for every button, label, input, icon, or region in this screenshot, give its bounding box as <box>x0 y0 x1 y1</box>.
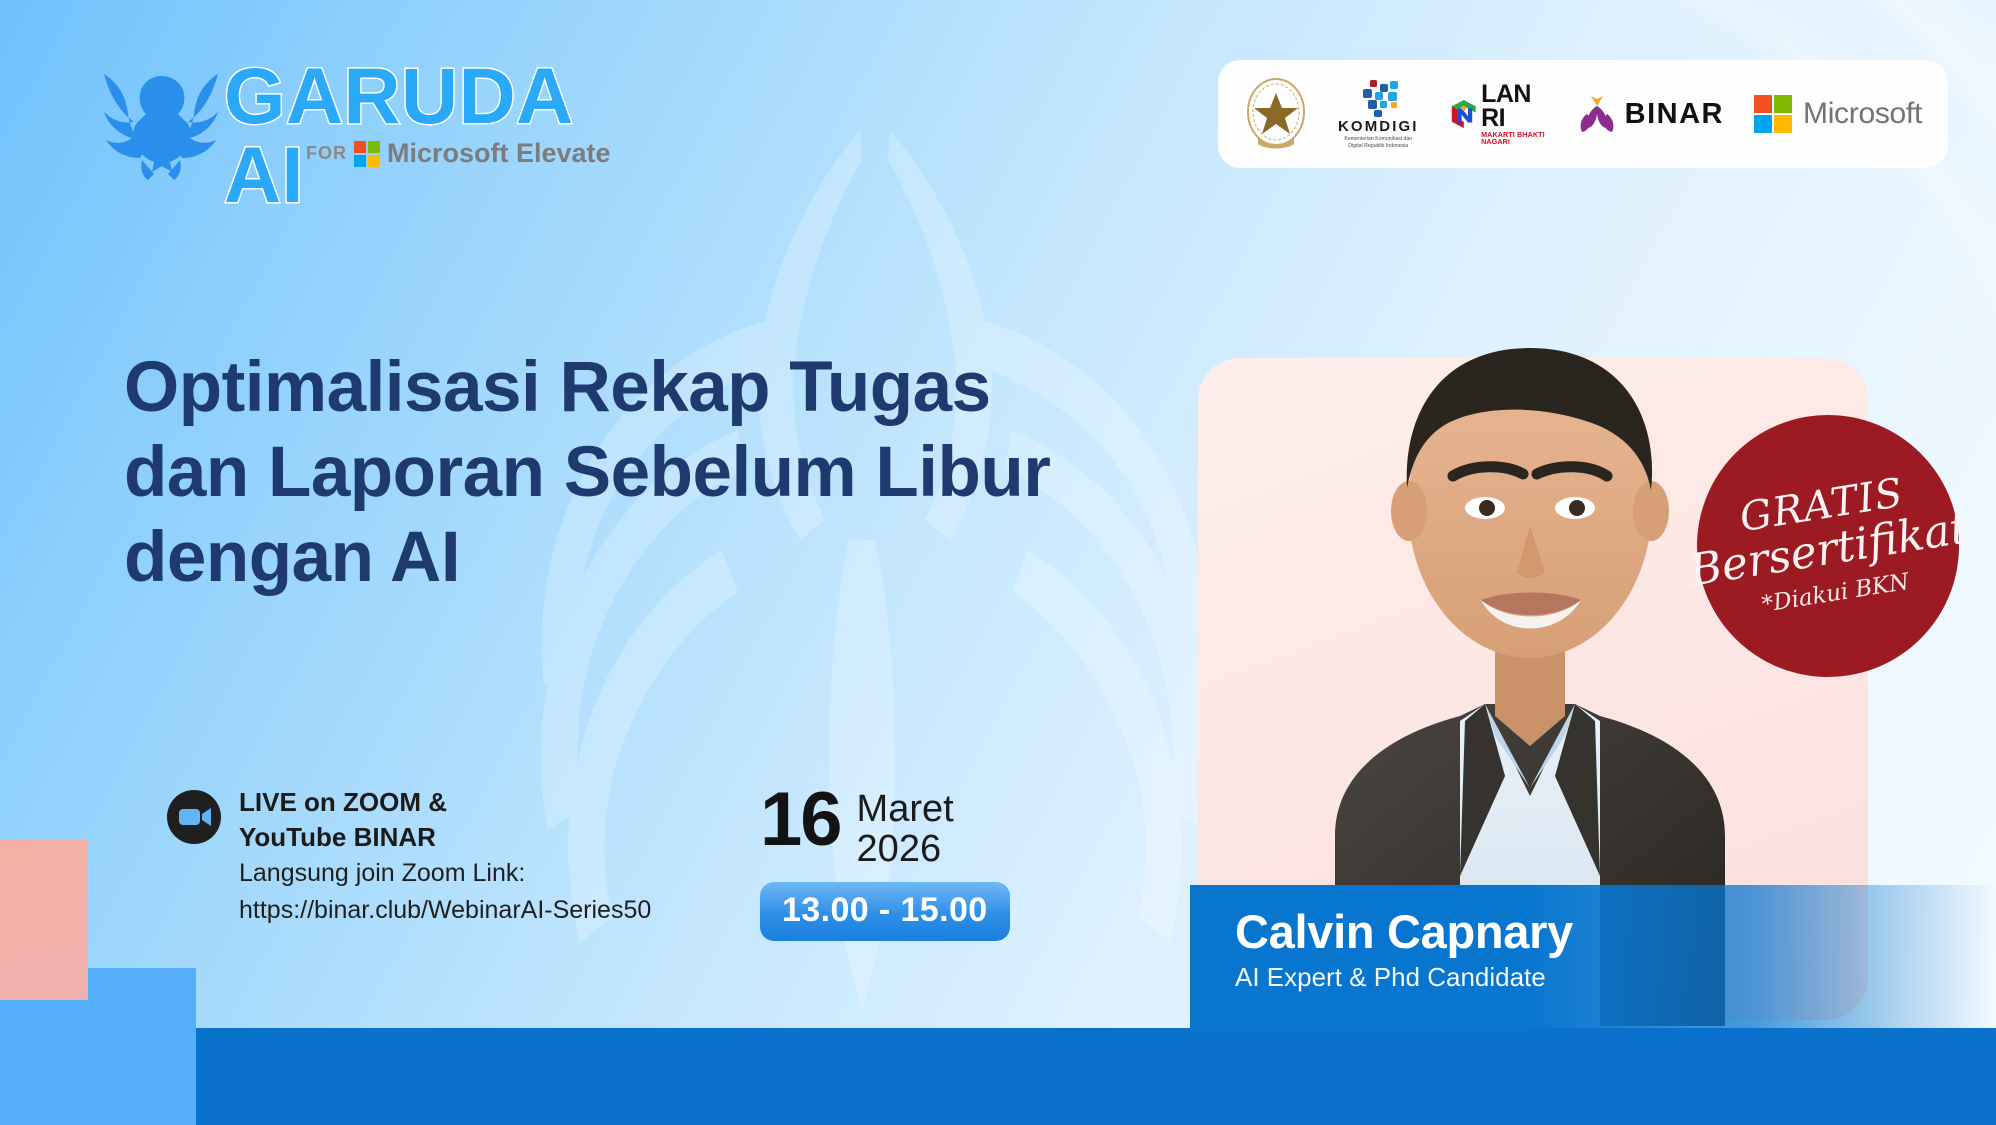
brand-for-label: FOR <box>306 143 347 164</box>
date-day: 16 <box>760 785 841 855</box>
brand-elevate-label: Microsoft Elevate <box>387 138 611 169</box>
lanri-name: LAN RI <box>1481 83 1548 131</box>
brand-wordmark: GARUDA AI <box>224 56 636 214</box>
microsoft-squares-icon <box>1754 95 1792 133</box>
live-url[interactable]: https://binar.club/WebinarAI-Series50 <box>239 894 651 928</box>
partner-logo-lanri: LAN RI MAKARTI BHAKTI NAGARI <box>1449 83 1548 145</box>
speaker-name: Calvin Capnary <box>1235 907 1996 956</box>
headline-line-2a: dan Laporan <box>124 433 564 512</box>
partner-logo-bar: KOMDIGI Kementerian Komunikasi dan Digit… <box>1218 60 1948 168</box>
date-block: 16 Maret 2026 13.00 - 15.00 <box>760 785 1060 941</box>
microsoft-name: Microsoft <box>1803 97 1922 131</box>
date-year: 2026 <box>857 829 954 869</box>
decor-blue-block-mid <box>88 1000 196 1125</box>
partner-logo-binar: BINAR <box>1578 94 1724 134</box>
time-badge: 13.00 - 15.00 <box>760 882 1010 941</box>
bottom-accent-bar <box>196 1028 1996 1125</box>
live-note: Langsung join Zoom Link: <box>239 857 651 891</box>
live-info-block: LIVE on ZOOM & YouTube BINAR Langsung jo… <box>166 785 726 927</box>
komdigi-dots-icon <box>1350 79 1406 117</box>
headline-line-2b: Sebelum Libur <box>564 433 1051 512</box>
lanri-hexagon-icon <box>1449 92 1479 136</box>
komdigi-subtitle: Kementerian Komunikasi dan Digital Repub… <box>1338 136 1419 149</box>
headline-line-3: dengan AI <box>124 518 460 597</box>
binar-name: BINAR <box>1625 98 1724 131</box>
speaker-role: AI Expert & Phd Candidate <box>1235 962 1996 993</box>
brand-logo: GARUDA AI FOR Microsoft Elevate <box>96 58 636 188</box>
decor-salmon-block <box>0 840 88 1025</box>
zoom-video-icon <box>166 789 222 845</box>
live-title-line-1: LIVE on ZOOM & <box>239 785 651 820</box>
live-title-line-2: YouTube BINAR <box>239 820 651 855</box>
headline-line-1: Optimalisasi Rekap Tugas <box>124 348 991 427</box>
webinar-banner: GARUDA AI FOR Microsoft Elevate <box>0 0 1996 1125</box>
speaker-name-bar: Calvin Capnary AI Expert & Phd Candidate <box>1190 885 1996 1030</box>
garuda-eagle-icon <box>96 62 226 182</box>
partner-logo-komdigi: KOMDIGI Kementerian Komunikasi dan Digit… <box>1338 79 1419 149</box>
partner-logo-republik-indonesia <box>1244 76 1308 152</box>
partner-logo-microsoft: Microsoft <box>1754 95 1922 133</box>
page-title: Optimalisasi Rekap Tugas dan Laporan Seb… <box>124 345 1194 601</box>
komdigi-name: KOMDIGI <box>1338 119 1419 134</box>
brand-subtitle: FOR Microsoft Elevate <box>306 138 611 169</box>
microsoft-squares-icon <box>354 141 380 167</box>
gold-star-emblem-icon <box>1244 76 1308 152</box>
date-month: Maret <box>857 789 954 829</box>
lanri-subtitle: MAKARTI BHAKTI NAGARI <box>1481 131 1548 145</box>
binar-tulip-icon <box>1578 94 1616 134</box>
